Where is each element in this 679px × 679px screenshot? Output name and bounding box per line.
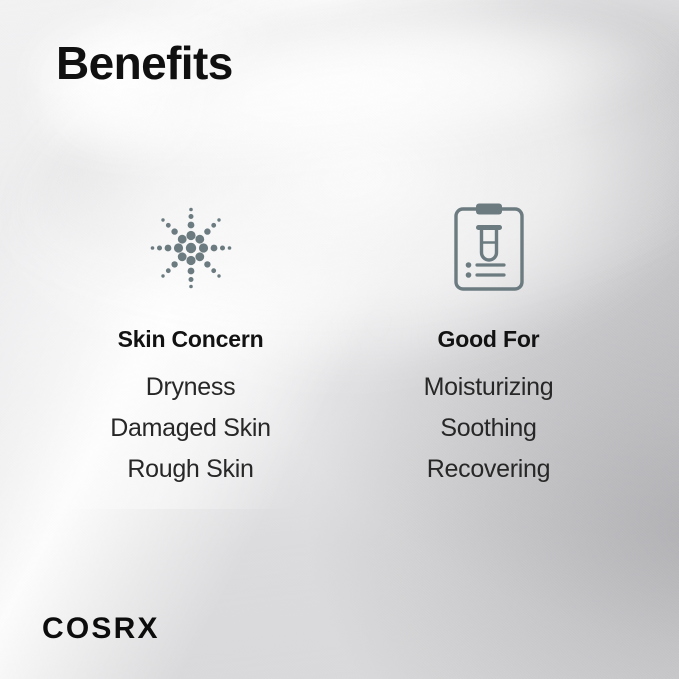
list-item: Damaged Skin	[110, 408, 270, 449]
column-heading-good-for: Good For	[438, 326, 540, 353]
column-heading-skin-concern: Skin Concern	[118, 326, 264, 353]
list-item: Recovering	[427, 449, 550, 490]
benefit-column-good-for: Good For Moisturizing Soothing Recoverin…	[340, 196, 638, 490]
benefit-columns: Skin Concern Dryness Damaged Skin Rough …	[0, 196, 679, 490]
dotted-starburst-icon	[139, 196, 243, 300]
benefit-list-good-for: Moisturizing Soothing Recovering	[424, 367, 554, 490]
clipboard-test-tube-icon	[437, 196, 541, 300]
list-item: Dryness	[146, 367, 236, 408]
benefit-list-skin-concern: Dryness Damaged Skin Rough Skin	[110, 367, 270, 490]
list-item: Rough Skin	[127, 449, 253, 490]
poster-content: Benefits	[0, 0, 679, 679]
list-item: Soothing	[440, 408, 536, 449]
brand-logo: COSRX	[42, 612, 160, 646]
page-title: Benefits	[56, 38, 233, 89]
list-item: Moisturizing	[424, 367, 554, 408]
benefits-poster: Benefits	[0, 0, 679, 679]
benefit-column-skin-concern: Skin Concern Dryness Damaged Skin Rough …	[42, 196, 340, 490]
